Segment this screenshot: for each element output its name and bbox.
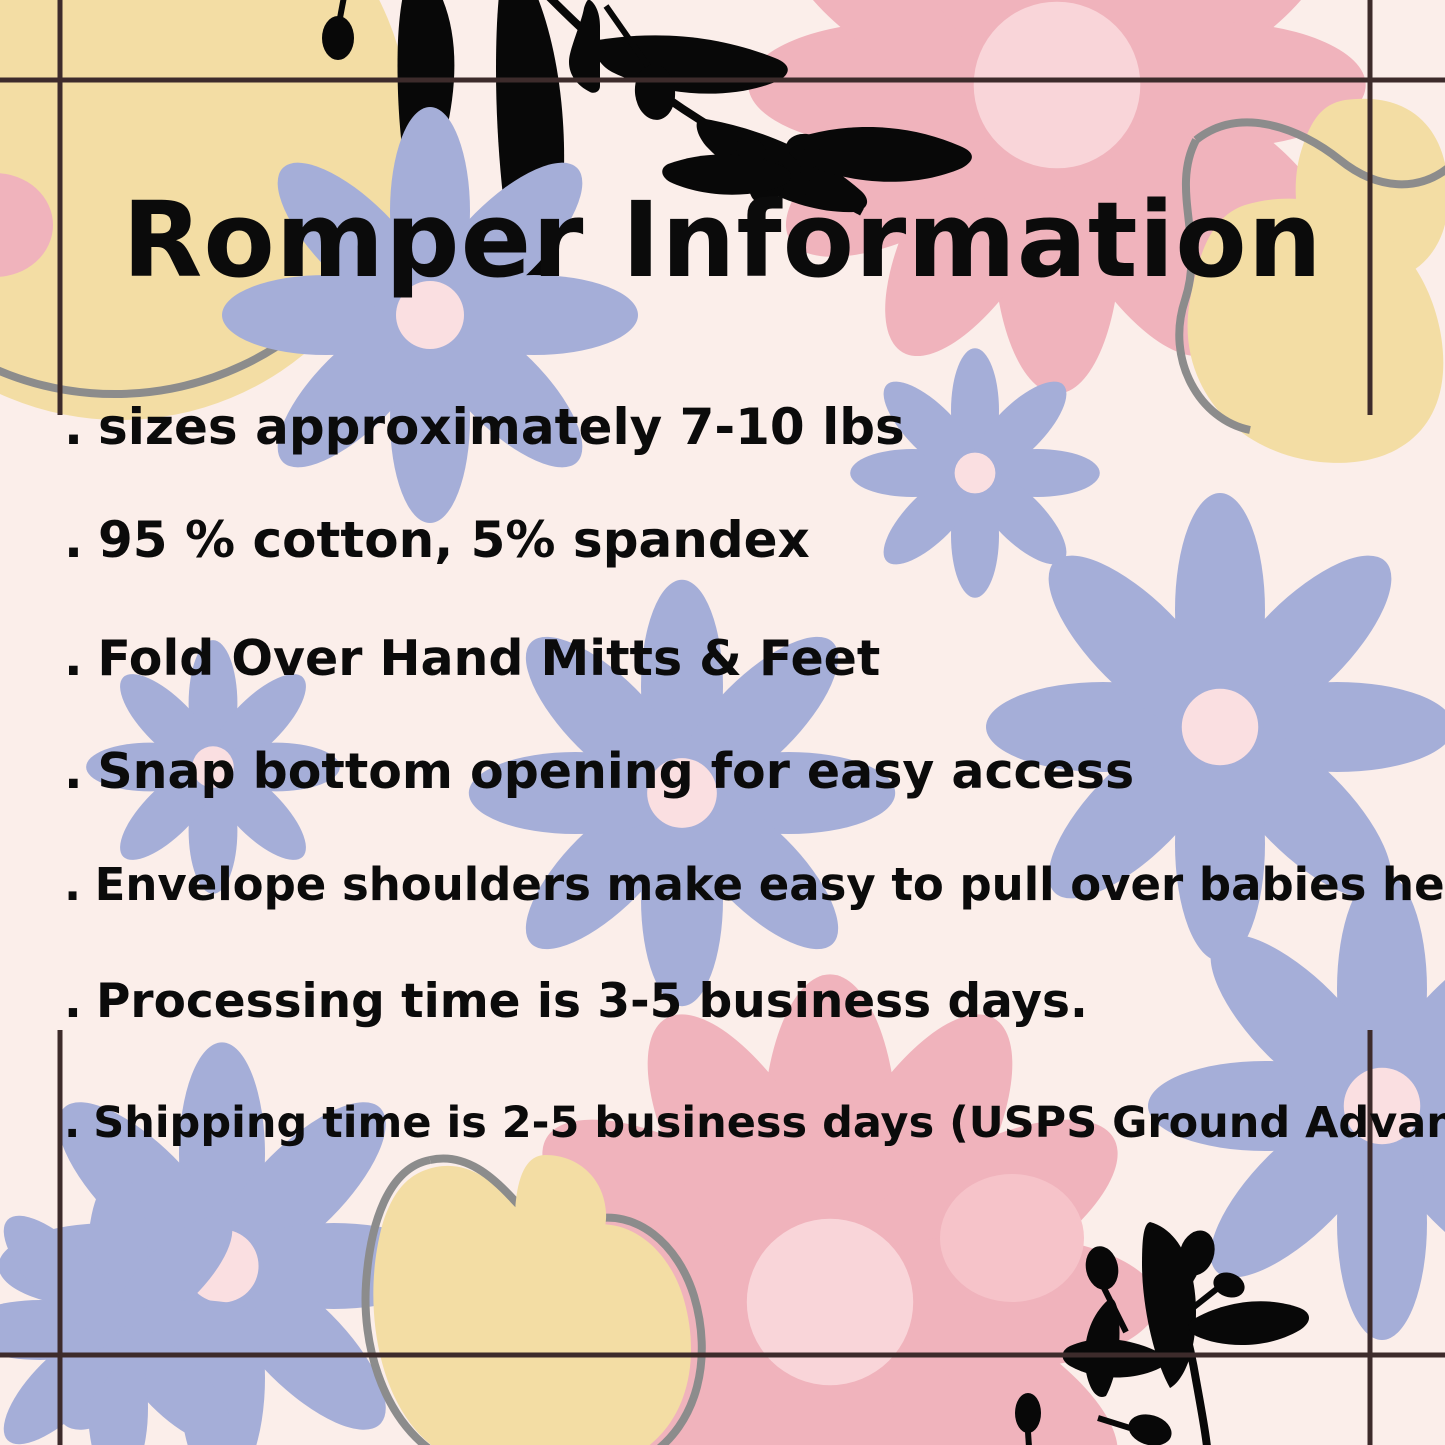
list-item: .Snap bottom opening for easy access [64,743,1134,800]
list-item-label: Processing time is 3-5 business days. [96,974,1088,1029]
list-item-label: Fold Over Hand Mitts & Feet [97,630,880,687]
romper-information-poster: Romper Information .sizes approximately … [0,0,1445,1445]
bullet-marker: . [64,858,81,911]
list-item: .Fold Over Hand Mitts & Feet [64,630,880,687]
list-item-label: sizes approximately 7-10 lbs [98,398,905,456]
list-item-label: Envelope shoulders make easy to pull ove… [95,858,1445,911]
bullet-marker: . [64,1098,80,1148]
page-title: Romper Information [0,186,1445,295]
list-item: .95 % cotton, 5% spandex [64,511,810,569]
list-item-label: Snap bottom opening for easy access [97,743,1134,800]
bullet-marker: . [64,398,83,456]
bullet-marker: . [64,743,83,800]
bullet-marker: . [64,974,82,1029]
list-item-label: Shipping time is 2-5 business days (USPS… [93,1098,1445,1148]
list-item: .sizes approximately 7-10 lbs [64,398,905,456]
bullet-marker: . [64,630,83,687]
list-item-label: 95 % cotton, 5% spandex [98,511,810,569]
list-item: .Shipping time is 2-5 business days (USP… [64,1098,1445,1148]
poster-content: Romper Information .sizes approximately … [0,0,1445,1445]
list-item: .Envelope shoulders make easy to pull ov… [64,858,1445,911]
bullet-marker: . [64,511,83,569]
list-item: .Processing time is 3-5 business days. [64,974,1088,1029]
